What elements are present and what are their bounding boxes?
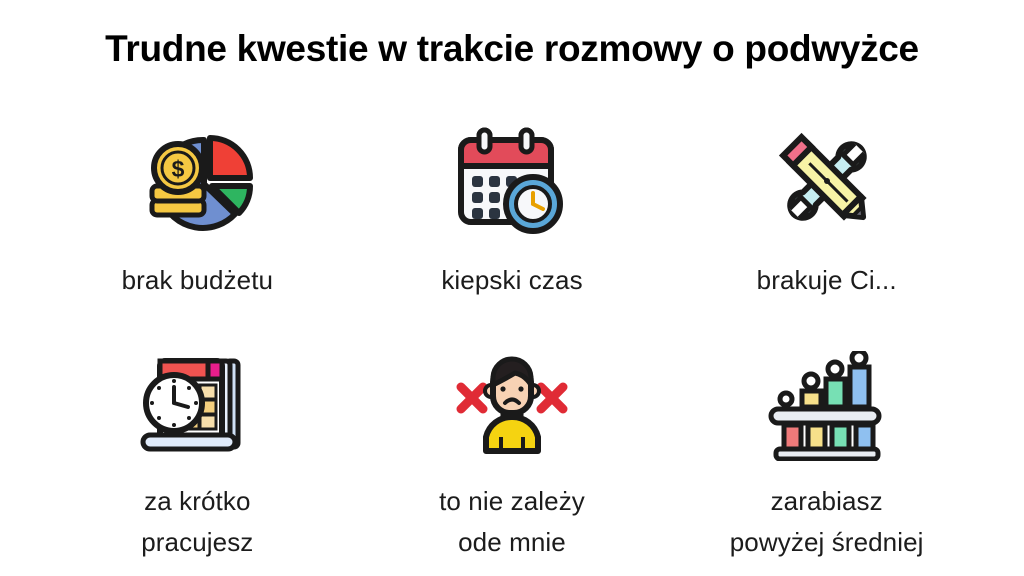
sad-person-rejected-icon bbox=[447, 347, 577, 465]
calendar-schedule-clock-icon bbox=[132, 347, 262, 465]
grid-item-label: to nie zależy ode mnie bbox=[439, 481, 585, 562]
grid-item-za-krotko-pracujesz: za krótko pracujesz bbox=[40, 333, 355, 562]
grid-item-label: kiepski czas bbox=[441, 260, 582, 300]
bar-chart-people-icon bbox=[762, 347, 892, 465]
page-title-main: w trakcie rozmowy o podwyżce bbox=[368, 28, 919, 69]
wrench-pencil-icon bbox=[762, 122, 892, 240]
grid-item-kiepski-czas: kiepski czas bbox=[355, 112, 670, 333]
reasons-grid: $ brak budżetu bbox=[40, 112, 984, 562]
grid-item-label: za krótko pracujesz bbox=[141, 481, 253, 562]
pie-chart-money-icon: $ bbox=[132, 122, 262, 240]
grid-item-label: brak budżetu bbox=[122, 260, 274, 300]
slide-canvas: Trudne kwestie w trakcie rozmowy o podwy… bbox=[0, 0, 1024, 576]
grid-item-to-nie-zalezy: to nie zależy ode mnie bbox=[355, 333, 670, 562]
calendar-clock-icon bbox=[447, 122, 577, 240]
page-title-accent: Trudne kwestie bbox=[105, 28, 368, 69]
grid-item-brak-budzetu: $ brak budżetu bbox=[40, 112, 355, 333]
grid-item-brakuje-ci: brakuje Ci... bbox=[669, 112, 984, 333]
page-title: Trudne kwestie w trakcie rozmowy o podwy… bbox=[0, 28, 1024, 70]
grid-item-zarabiasz-powyzej-sredniej: zarabiasz powyżej średniej bbox=[669, 333, 984, 562]
grid-item-label: zarabiasz powyżej średniej bbox=[730, 481, 924, 562]
grid-item-label: brakuje Ci... bbox=[757, 260, 897, 300]
svg-text:$: $ bbox=[172, 156, 185, 182]
